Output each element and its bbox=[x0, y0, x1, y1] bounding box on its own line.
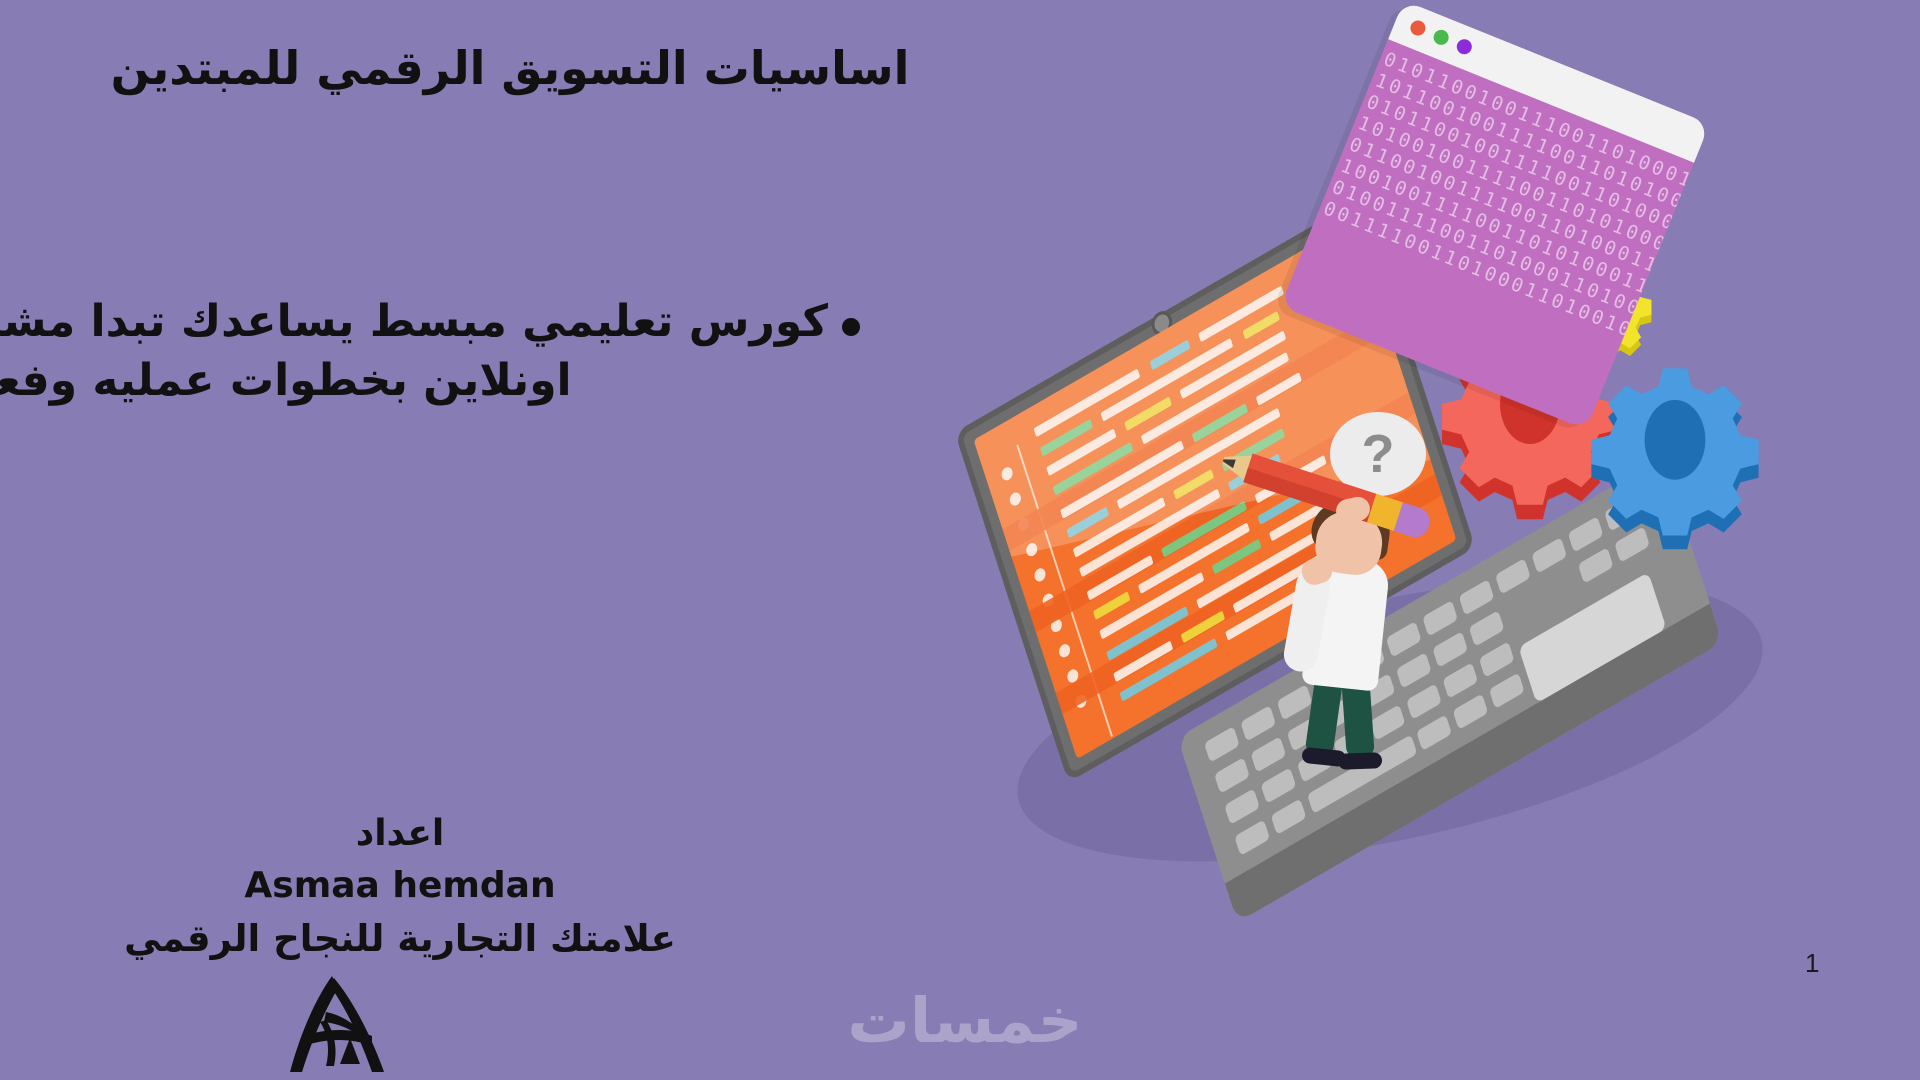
credits-block: اعداد Asmaa hemdan علامتك التجارية للنجا… bbox=[0, 808, 800, 966]
window-dot-green-icon bbox=[1431, 28, 1451, 48]
tagline: علامتك التجارية للنجاح الرقمي bbox=[0, 912, 800, 966]
author-name: Asmaa hemdan bbox=[0, 860, 800, 912]
bullet-point-icon bbox=[842, 318, 860, 336]
window-controls bbox=[1408, 18, 1474, 56]
page-title: اساسيات التسويق الرقمي للمبتدين bbox=[0, 42, 1020, 95]
hero-illustration: ? 0101100100111001101000110110 101100100… bbox=[1000, 40, 1920, 880]
gear-blue-icon bbox=[1580, 360, 1770, 550]
credits-label: اعداد bbox=[0, 808, 800, 860]
person-figure bbox=[1250, 440, 1470, 770]
bullet-line-1: كورس تعليمي مبسط يساعدك تبدا مشروعك bbox=[0, 292, 828, 351]
list-item: كورس تعليمي مبسط يساعدك تبدا مشروعك bbox=[0, 292, 860, 351]
bullet-list: كورس تعليمي مبسط يساعدك تبدا مشروعك اونل… bbox=[0, 292, 860, 411]
watermark-text: خمسات bbox=[840, 986, 1090, 1056]
window-dot-red-icon bbox=[1408, 18, 1428, 38]
page-number: 1 bbox=[1805, 948, 1819, 979]
brand-logo-icon bbox=[268, 968, 398, 1080]
bullet-line-2: اونلاين بخطوات عمليه وفعاله bbox=[0, 351, 828, 410]
site-watermark: خمسات bbox=[840, 986, 1090, 1056]
window-dot-purple-icon bbox=[1455, 37, 1475, 57]
slide-canvas: اساسيات التسويق الرقمي للمبتدين كورس تعل… bbox=[0, 0, 1920, 1080]
